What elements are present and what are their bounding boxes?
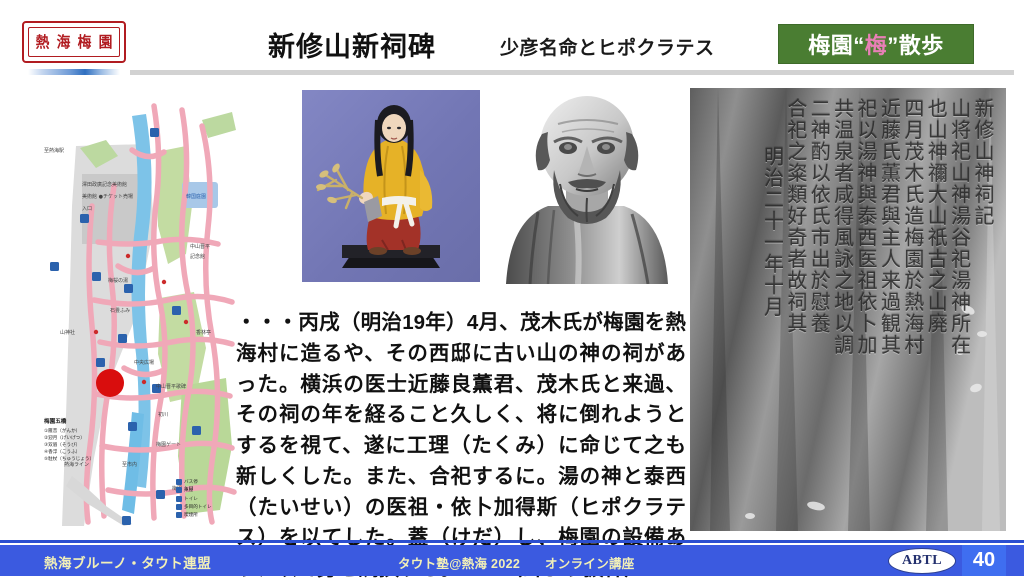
map-current-location-marker[interactable]: [96, 369, 124, 397]
baien-park-map[interactable]: 至熱海駅 澤田政廣記念美術館 美術館 ●チケット売場 入口 韓国庭園 中山晋平 …: [36, 86, 248, 526]
photo-stone-monument-inscription: 新修山神祠記 山将祀山神湯谷祀湯神所在 也山神禰大山祇古之山廃 四月茂木氏造梅園…: [690, 88, 1006, 531]
photo-hippocrates-bust: [492, 88, 680, 284]
restroom-icon: [176, 496, 182, 502]
badge-text-part2: ”散歩: [887, 28, 944, 60]
abtl-logo-text: ABTL: [902, 553, 942, 569]
monument-excerpt-text: ・・・丙戌（明治19年）4月、茂木氏が梅園を熱海村に造るや、その西邸に古い山の神…: [236, 308, 686, 585]
svg-text:山神社: 山神社: [60, 329, 75, 336]
smoking-area-icon: [176, 512, 182, 518]
svg-text:梅桜の湯: 梅桜の湯: [108, 277, 128, 284]
svg-text:韓国庭園: 韓国庭園: [186, 193, 206, 200]
svg-text:中央広場: 中央広場: [134, 359, 154, 366]
stone-column-1: 新修山神祠記: [972, 98, 994, 521]
svg-text:記念館: 記念館: [190, 253, 205, 260]
facility-row-4: 多目的トイレ: [176, 503, 212, 511]
facility-label-1: バス停: [184, 478, 198, 486]
map-legend-title: 梅園五橋: [44, 418, 94, 427]
svg-text:至熱海駅: 至熱海駅: [44, 147, 64, 154]
stone-column-3: 也山神禰大山祇古之山廃: [925, 98, 947, 521]
svg-text:入口: 入口: [82, 206, 92, 212]
legend-item-3: ③双眉（そうび）: [44, 442, 94, 449]
photo-sukunahikona-statue: [302, 90, 480, 282]
stone-column-7: 共温泉者咸得風詠之地以調: [831, 98, 853, 521]
slide-header: 熱 海 梅 園 新修山新祠碑 少彦名命とヒポクラテス 梅園“ 梅 ”散歩: [0, 0, 1024, 76]
facility-label-2: 東屋: [184, 486, 193, 494]
stone-column-5: 近藤氏薫君與主人来過観其: [878, 98, 900, 521]
shelter-icon: [176, 487, 182, 493]
seal-inner-frame: 熱 海 梅 園: [28, 27, 120, 57]
facility-row-5: 喫煙所: [176, 511, 212, 519]
seal-char-1: 熱: [36, 35, 49, 50]
footer-event-title: タウト塾@熱海 2022: [398, 553, 520, 572]
facility-label-5: 喫煙所: [184, 511, 198, 519]
svg-text:澤田政廣記念美術館: 澤田政廣記念美術館: [82, 181, 127, 188]
stone-column-10: 明治二十一年十月: [761, 98, 783, 521]
logo-underline-accent: [28, 69, 120, 75]
seal-char-3: 梅: [78, 35, 91, 50]
facility-label-3: トイレ: [184, 495, 198, 503]
stone-column-2: 山将祀山神湯谷祀湯神所在: [948, 98, 970, 521]
page-number: 40: [973, 549, 995, 572]
svg-text:中山晋平歌碑: 中山晋平歌碑: [156, 383, 186, 390]
svg-text:至市内: 至市内: [122, 461, 137, 468]
abtl-logo: ABTL: [888, 548, 956, 574]
header-divider-rule: [130, 70, 1014, 75]
page-title: 新修山新祠碑: [268, 25, 436, 64]
map-legend-facilities: バス停 東屋 トイレ 多目的トイレ 喫煙所: [176, 478, 212, 519]
atami-baien-seal-logo: 熱 海 梅 園: [22, 21, 126, 63]
facility-row-3: トイレ: [176, 495, 212, 503]
stone-column-6: 祀以湯神與泰西医祖依卜加: [855, 98, 877, 521]
stone-column-9: 合祀之粢類好奇者故祠其: [784, 98, 806, 521]
stone-column-8: 二神酌以依氏市出於慰養: [808, 98, 830, 521]
badge-text-accent: 梅: [865, 28, 888, 60]
page-number-badge: 40: [962, 545, 1006, 576]
seal-char-2: 海: [57, 35, 70, 50]
legend-item-4: ④香浮（こうふ）: [44, 449, 94, 456]
footer-organization: 熱海ブルーノ・タウト連盟: [44, 552, 211, 572]
map-legend-five-bridges: 梅園五橋 ①雁音（がんか） ②迎月（げいげつ） ③双眉（そうび） ④香浮（こうふ…: [44, 418, 94, 463]
svg-text:石畳ふみ: 石畳ふみ: [110, 308, 130, 314]
facility-row-1: バス停: [176, 478, 212, 486]
statue-illustration: [302, 90, 480, 282]
legend-item-5: ⑤駐杖（ちゅうじょう）: [44, 456, 94, 463]
accessible-restroom-icon: [176, 504, 182, 510]
stone-column-4: 四月茂木氏造梅園於熱海村: [901, 98, 923, 521]
seal-char-4: 園: [99, 35, 112, 50]
legend-item-2: ②迎月（げいげつ）: [44, 435, 94, 442]
facility-row-2: 東屋: [176, 486, 212, 494]
svg-text:梅園ゲート: 梅園ゲート: [156, 441, 181, 448]
svg-text:美術館 ●チケット売場: 美術館 ●チケット売場: [82, 193, 133, 200]
footer-event-format: オンライン講座: [545, 553, 635, 572]
legend-item-1: ①雁音（がんか）: [44, 428, 94, 435]
svg-text:中山晋平: 中山晋平: [190, 243, 210, 250]
badge-text-part1: 梅園“: [808, 28, 865, 60]
facility-label-4: 多目的トイレ: [184, 503, 212, 511]
hippocrates-illustration: [492, 88, 680, 284]
stone-inscription-columns: 新修山神祠記 山将祀山神湯谷祀湯神所在 也山神禰大山祇古之山廃 四月茂木氏造梅園…: [696, 94, 1000, 525]
svg-text:香林亭: 香林亭: [196, 329, 211, 336]
bus-stop-icon: [176, 479, 182, 485]
section-badge: 梅園“ 梅 ”散歩: [778, 24, 974, 64]
page-subtitle: 少彦名命とヒポクラテス: [500, 33, 715, 60]
footer-top-rule: [0, 540, 1024, 543]
svg-text:初川: 初川: [158, 411, 168, 418]
